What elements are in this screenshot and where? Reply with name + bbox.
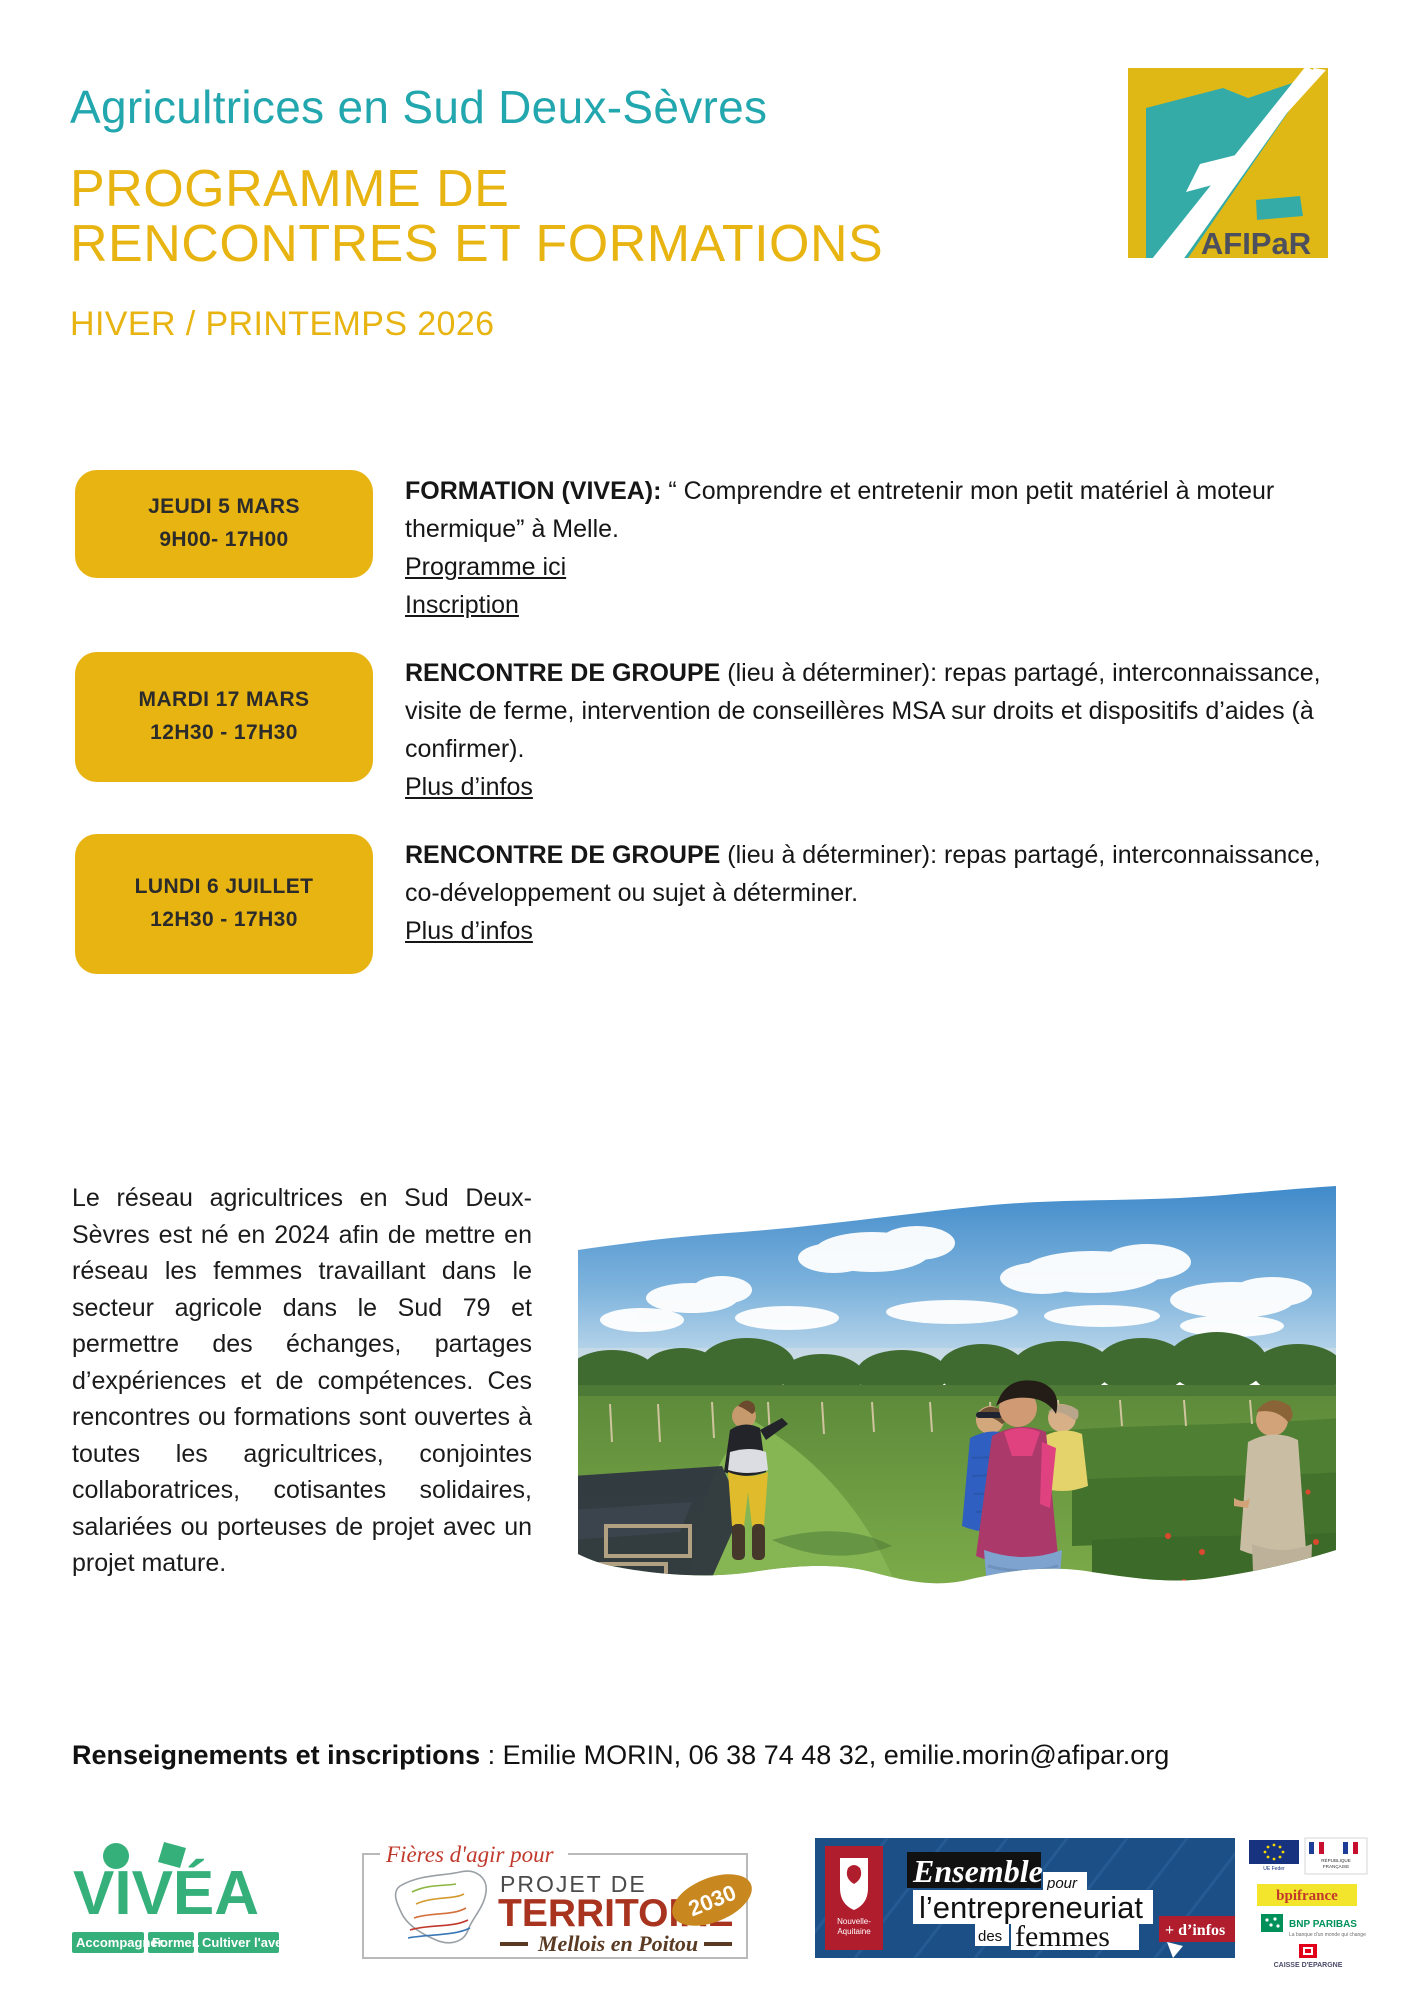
vivea-logo: VIVÉA Accompagner. Former. Cultiver l'av…: [68, 1836, 283, 1966]
about-paragraph: Le réseau agricultrices en Sud Deux-Sèvr…: [72, 1180, 532, 1582]
events-list: JEUDI 5 MARS 9H00- 17H00 FORMATION (VIVE…: [0, 470, 1414, 1002]
contact-line: Renseignements et inscriptions : Emilie …: [72, 1740, 1372, 1771]
sponsor-bnp: BNP PARIBAS: [1289, 1919, 1357, 1930]
poster-header: Agricultrices en Sud Deux-Sèvres PROGRAM…: [0, 0, 1414, 330]
territoire-script: Fières d'agir pour: [385, 1842, 555, 1867]
page-title-line2: RENCONTRES ET FORMATIONS: [70, 220, 883, 269]
event-lead: FORMATION (VIVEA):: [405, 477, 661, 505]
event-date-badge: LUNDI 6 JUILLET 12H30 - 17H30: [75, 834, 373, 974]
poster-page: Agricultrices en Sud Deux-Sèvres PROGRAM…: [0, 0, 1414, 2000]
sponsor-logos: UE Feder RÉPUBLIQUE FRANÇAISE bpifrance: [1245, 1834, 1373, 1974]
event-description: RENCONTRE DE GROUPE (lieu à déterminer):…: [405, 834, 1354, 950]
event-time: 9H00- 17H00: [159, 524, 288, 557]
season-subtitle: HIVER / PRINTEMPS 2026: [70, 305, 495, 344]
vivea-tag-3: Cultiver l'avenir.: [202, 1935, 283, 1950]
sponsor-eu-label: UE Feder: [1263, 1866, 1285, 1872]
ensemble-w4: des: [978, 1928, 1002, 1945]
event-link-programme[interactable]: Programme ici: [405, 548, 1354, 586]
event-row: JEUDI 5 MARS 9H00- 17H00 FORMATION (VIVE…: [0, 470, 1414, 624]
event-description: FORMATION (VIVEA): “ Comprendre et entre…: [405, 470, 1354, 624]
event-link-plus-infos[interactable]: Plus d’infos: [405, 912, 1354, 950]
entrepreneuriat-femmes-logo[interactable]: Nouvelle- Aquitaine Ensemble pour l’entr…: [815, 1838, 1235, 1958]
event-lead: RENCONTRE DE GROUPE: [405, 841, 720, 869]
event-date: LUNDI 6 JUILLET: [135, 871, 314, 904]
ensemble-w5: femmes: [1015, 1920, 1110, 1953]
territoire-line3: Mellois en Poitou: [537, 1931, 698, 1956]
sponsor-bnp-tagline: La banque d'un monde qui change: [1289, 1932, 1366, 1938]
farm-visit-photo: Groupe d’agricultrices en visite de ferm…: [572, 1180, 1342, 1600]
event-date-badge: MARDI 17 MARS 12H30 - 17H30: [75, 652, 373, 782]
event-link-inscription[interactable]: Inscription: [405, 586, 1354, 624]
header-kicker: Agricultrices en Sud Deux-Sèvres: [70, 80, 767, 134]
ensemble-cta: + d’infos: [1165, 1922, 1225, 1939]
footer-logos: VIVÉA Accompagner. Former. Cultiver l'av…: [0, 1820, 1414, 1995]
sponsor-rf-label-2: FRANÇAISE: [1323, 1864, 1349, 1869]
contact-label: Renseignements et inscriptions: [72, 1740, 480, 1770]
event-lead: RENCONTRE DE GROUPE: [405, 659, 720, 687]
event-row: LUNDI 6 JUILLET 12H30 - 17H30 RENCONTRE …: [0, 834, 1414, 974]
event-date: JEUDI 5 MARS: [148, 491, 300, 524]
event-time: 12H30 - 17H30: [150, 717, 298, 750]
ensemble-w1: Ensemble: [912, 1853, 1043, 1889]
sponsor-caisse: CAISSE D'EPARGNE: [1274, 1962, 1343, 1969]
event-date: MARDI 17 MARS: [139, 684, 310, 717]
vivea-wordmark: VIVÉA: [73, 1859, 259, 1928]
afipar-logo-text: AFIPaR: [1201, 226, 1311, 261]
vivea-tag-2: Former.: [152, 1935, 200, 1950]
sponsor-rf-label: RÉPUBLIQUE: [1321, 1857, 1351, 1863]
event-row: MARDI 17 MARS 12H30 - 17H30 RENCONTRE DE…: [0, 652, 1414, 806]
contact-value: : Emilie MORIN, 06 38 74 48 32, emilie.m…: [480, 1740, 1169, 1770]
event-description: RENCONTRE DE GROUPE (lieu à déterminer):…: [405, 652, 1354, 806]
event-date-badge: JEUDI 5 MARS 9H00- 17H00: [75, 470, 373, 578]
afipar-logo: AFIPaR: [1128, 68, 1338, 268]
region-label-1: Nouvelle-: [837, 1917, 871, 1926]
sponsor-bpifrance: bpifrance: [1276, 1888, 1338, 1904]
region-label-2: Aquitaine: [837, 1927, 871, 1936]
event-time: 12H30 - 17H30: [150, 904, 298, 937]
event-link-plus-infos[interactable]: Plus d’infos: [405, 768, 1354, 806]
page-title-line1: PROGRAMME DE: [70, 160, 509, 218]
page-title: PROGRAMME DE RENCONTRES ET FORMATIONS: [70, 165, 883, 270]
projet-territoire-logo: Fières d'agir pour PROJET DE TERRITOIRE …: [360, 1830, 760, 1975]
